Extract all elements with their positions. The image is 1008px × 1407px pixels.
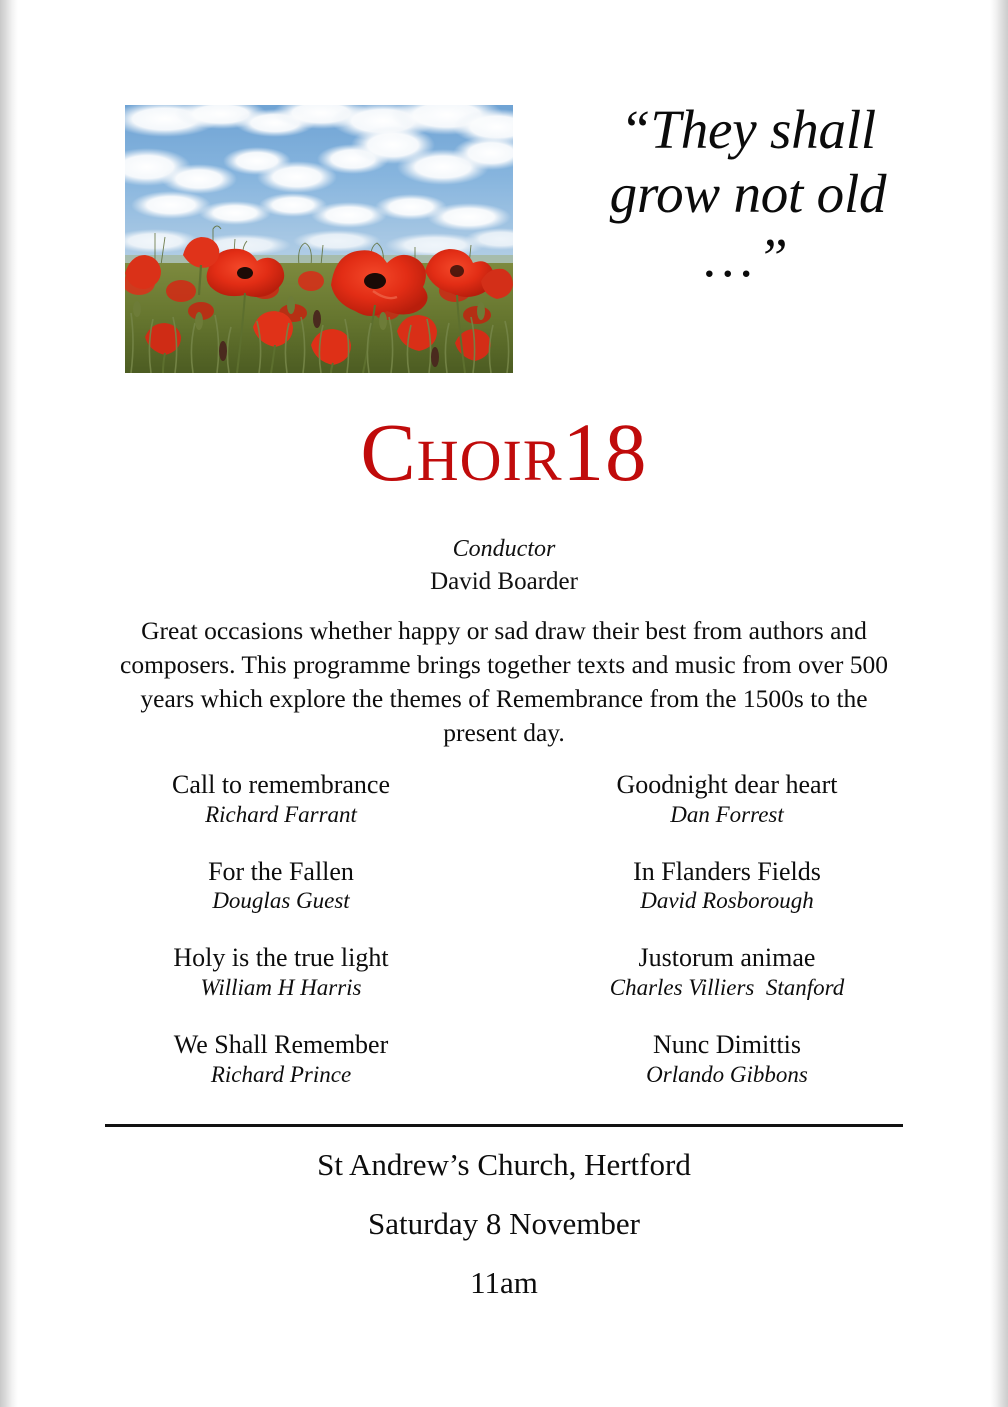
programme-item-title: Call to remembrance (58, 770, 504, 801)
programme-item: Holy is the true light William H Harris (58, 943, 504, 1002)
programme-column-right: Goodnight dear heart Dan Forrest In Flan… (504, 770, 950, 1117)
programme-list: Call to remembrance Richard Farrant For … (58, 770, 950, 1117)
programme-item-composer: Richard Prince (58, 1061, 504, 1089)
page-title: Choir18 (18, 411, 990, 494)
programme-item-title: Holy is the true light (58, 943, 504, 974)
quote-line-1: “They shall (548, 98, 948, 162)
conductor-name: David Boarder (18, 565, 990, 599)
event-date: Saturday 8 November (18, 1205, 990, 1242)
event-details: St Andrew’s Church, Hertford Saturday 8 … (18, 1146, 990, 1302)
programme-item-composer: Dan Forrest (504, 801, 950, 829)
programme-item-composer: Douglas Guest (58, 887, 504, 915)
event-venue: St Andrew’s Church, Hertford (18, 1146, 990, 1183)
programme-item-title: Nunc Dimittis (504, 1030, 950, 1061)
programme-column-left: Call to remembrance Richard Farrant For … (58, 770, 504, 1117)
quote-line-2: grow not old (548, 162, 948, 226)
poppy-field-photo (125, 105, 513, 373)
poster-header: “They shall grow not old …” (18, 6, 990, 406)
horizontal-divider (105, 1124, 903, 1127)
programme-item: Goodnight dear heart Dan Forrest (504, 770, 950, 829)
programme-item: Call to remembrance Richard Farrant (58, 770, 504, 829)
programme-item: Nunc Dimittis Orlando Gibbons (504, 1030, 950, 1089)
programme-item-title: Goodnight dear heart (504, 770, 950, 801)
programme-item-title: Justorum animae (504, 943, 950, 974)
programme-item-composer: William H Harris (58, 974, 504, 1002)
programme-item: Justorum animae Charles Villiers Stanfor… (504, 943, 950, 1002)
programme-item-composer: Orlando Gibbons (504, 1061, 950, 1089)
poster-quote: “They shall grow not old …” (548, 98, 948, 289)
programme-item-composer: David Rosborough (504, 887, 950, 915)
conductor-role-label: Conductor (18, 534, 990, 565)
programme-item-composer: Charles Villiers Stanford (504, 974, 950, 1002)
event-time: 11am (18, 1264, 990, 1301)
description-paragraph: Great occasions whether happy or sad dra… (118, 614, 890, 750)
quote-line-3: …” (548, 226, 948, 290)
programme-item: For the Fallen Douglas Guest (58, 857, 504, 916)
poster-page: “They shall grow not old …” Choir18 Cond… (18, 6, 990, 1401)
programme-item-title: In Flanders Fields (504, 857, 950, 888)
programme-item-title: For the Fallen (58, 857, 504, 888)
programme-item: In Flanders Fields David Rosborough (504, 857, 950, 916)
programme-item: We Shall Remember Richard Prince (58, 1030, 504, 1089)
programme-item-title: We Shall Remember (58, 1030, 504, 1061)
programme-item-composer: Richard Farrant (58, 801, 504, 829)
conductor-block: Conductor David Boarder (18, 534, 990, 599)
